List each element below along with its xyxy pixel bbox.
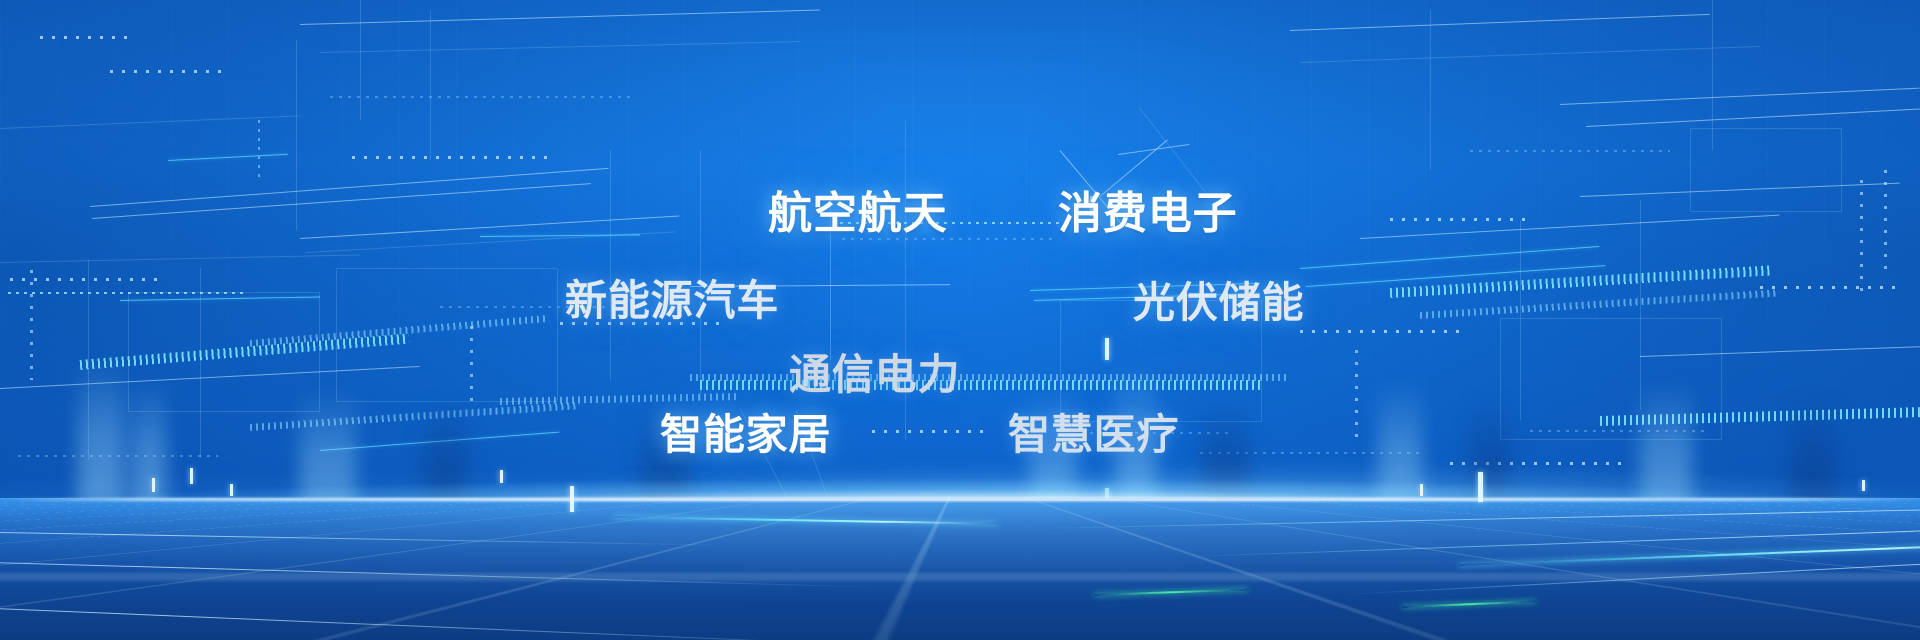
keyword-aerospace[interactable]: 航空航天 bbox=[768, 192, 948, 236]
keyword-telecom-power[interactable]: 通信电力 bbox=[789, 354, 960, 396]
keyword-consumer-elec[interactable]: 消费电子 bbox=[1058, 192, 1238, 236]
horizon-core-line bbox=[0, 498, 1920, 501]
keyword-new-energy-auto[interactable]: 新能源汽车 bbox=[565, 280, 779, 322]
keyword-smart-medical[interactable]: 智慧医疗 bbox=[1008, 414, 1179, 456]
keyword-pv-storage[interactable]: 光伏储能 bbox=[1133, 282, 1304, 324]
tech-banner: 航空航天 消费电子 新能源汽车 光伏储能 通信电力 智能家居 智慧医疗 bbox=[0, 0, 1920, 640]
perspective-grid-floor bbox=[0, 498, 1920, 640]
keyword-smart-home[interactable]: 智能家居 bbox=[660, 414, 831, 456]
